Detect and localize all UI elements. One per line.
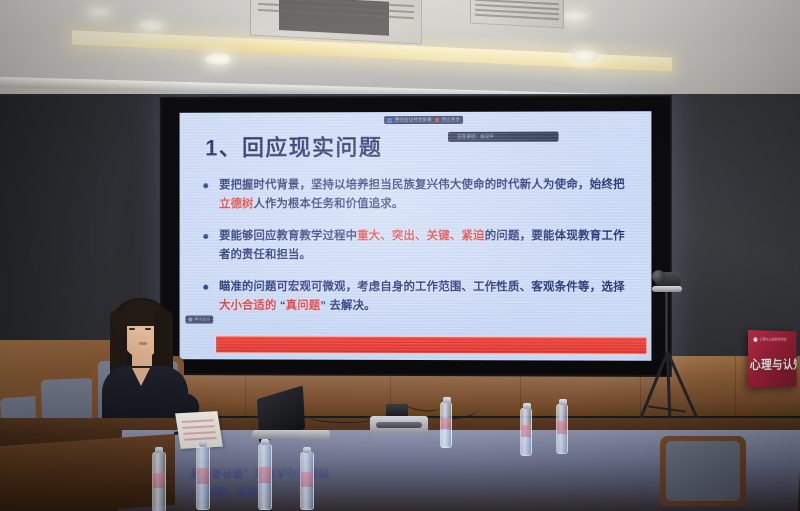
slide-bullet-list: 要把握时代背景，坚持以培养担当民族复兴伟大使命的时代新人为使命，始终把立德树人作… — [201, 176, 633, 330]
bullet-3-segment-4: 真问题 — [286, 300, 321, 312]
bullet-3-segment-1: 瞄准的问题可宏观可微观，考虑自身的工作范围、工作性质、客观条件等，选择 — [219, 281, 625, 294]
slide-accent-bar — [215, 335, 647, 354]
downlight-4 — [205, 53, 231, 65]
chair-right — [660, 436, 746, 506]
water-bottle-4 — [300, 452, 314, 510]
downlight-5 — [572, 50, 598, 62]
bullet-1-segment-3: 人作为根本任务和价值追求。 — [254, 198, 404, 210]
reflection-line-1: “真问题” 去解决。 — [190, 482, 610, 500]
downlight-2 — [138, 20, 164, 32]
slide-bullet-1: 要把握时代背景，坚持以培养担当民族复兴伟大使命的时代新人为使命，始终把立德树人作… — [201, 176, 633, 214]
table-front-edge — [0, 434, 175, 511]
water-bottle-3 — [258, 444, 272, 510]
slide-reflection: “真问题” 去解决。 客观条件等，选择大小合适的 — [190, 452, 610, 500]
downlight-3 — [562, 10, 588, 22]
slide-title: 1、回应现实问题 — [205, 130, 382, 162]
bullet-2-segment-1: 要能够回应教育教学过程中 — [219, 230, 357, 242]
projection-screen: 1、回应现实问题 要把握时代背景，坚持以培养担当民族复兴伟大使命的时代新人为使命… — [160, 95, 672, 377]
university-emblem-icon — [753, 337, 757, 342]
water-bottle-7 — [556, 404, 568, 454]
meeting-speaking-label: 正在讲话：会议中 — [457, 134, 494, 140]
share-icon — [387, 118, 392, 123]
slide-bullet-3: 瞄准的问题可宏观可微观，考虑自身的工作范围、工作性质、客观条件等，选择大小合适的… — [201, 278, 633, 317]
camera-lens-icon — [652, 270, 665, 283]
screen-bezel-bottom — [162, 359, 670, 375]
bullet-1-segment-1: 要把握时代背景，坚持以培养担当民族复兴伟大使命的时代新人为使命，始终把 — [219, 179, 625, 192]
ceiling — [0, 0, 800, 96]
stop-share-icon — [435, 118, 439, 122]
screen-share-label: 腾讯会议共享屏幕 — [395, 117, 432, 123]
conference-room-scene: 1、回应现实问题 要把握时代背景，坚持以培养担当民族复兴伟大使命的时代新人为使命… — [0, 0, 800, 511]
eye-left — [129, 328, 135, 330]
watermark-label: 腾讯会议 — [194, 317, 210, 323]
banner-organization: 心理与认知科学学院 — [759, 337, 786, 342]
tripod-column — [665, 292, 668, 356]
screen-share-badge[interactable]: 腾讯会议共享屏幕 停止共享 — [384, 116, 463, 124]
banner-logo: 心理与认知科学学院 — [753, 337, 786, 343]
ac-vent-right — [470, 0, 564, 28]
slide-bullet-2: 要能够回应教育教学过程中重大、突出、关键、紧迫的问题，要能体现教育工作者的责任和… — [201, 227, 633, 265]
av-control-unit — [370, 416, 428, 434]
downlight-1 — [86, 6, 112, 18]
water-bottle-1 — [152, 452, 166, 511]
meeting-speaking-bar[interactable]: 正在讲话：会议中 — [448, 132, 559, 142]
mic-receiver-box — [300, 430, 330, 440]
eye-right — [145, 328, 151, 330]
water-bottle-2 — [196, 446, 210, 510]
water-bottle-5 — [440, 402, 452, 448]
water-bottle-6 — [520, 408, 532, 456]
event-banner: 心理与认知科学学院 心理与认知科 — [748, 330, 797, 388]
bullet-3-segment-5: ” 去解决。 — [320, 300, 375, 312]
banner-title: 心理与认知科 — [750, 354, 797, 373]
ac-vent-center — [250, 0, 422, 45]
bullet-1-segment-2: 立德树 — [219, 198, 253, 210]
bullet-3-segment-3: “ — [277, 300, 286, 312]
mouth — [139, 342, 147, 345]
bullet-3-segment-2: 大小合适的 — [219, 300, 276, 312]
stop-share-label: 停止共享 — [442, 117, 460, 123]
reflection-line-2: 客观条件等，选择大小合适的 — [190, 464, 610, 482]
presentation-slide: 1、回应现实问题 要把握时代背景，坚持以培养担当民族复兴伟大使命的时代新人为使命… — [180, 111, 652, 361]
bullet-2-segment-2: 重大、突出、关键、紧迫 — [357, 230, 485, 242]
